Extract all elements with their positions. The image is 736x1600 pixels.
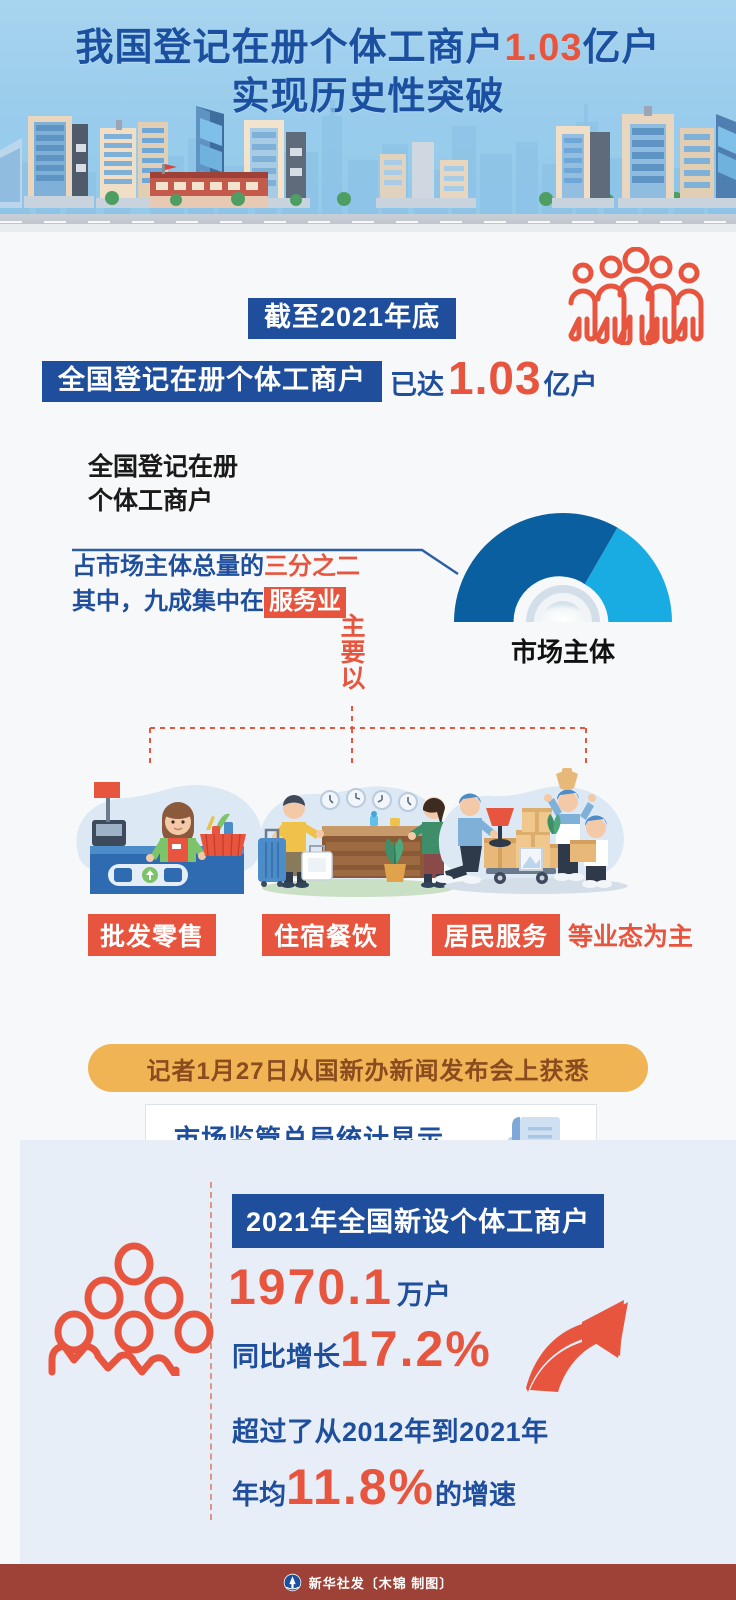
share-title: 全国登记在册 个体工商户	[88, 450, 238, 518]
industry-labels-row: 批发零售 住宿餐饮 居民服务 等业态为主	[0, 914, 736, 958]
dashed-branch-connector	[0, 706, 736, 770]
gauge-label: 市场主体	[448, 632, 678, 669]
share-desc-prefix: 占市场主体总量的	[72, 553, 264, 580]
date-tag-row: 截至2021年底	[248, 298, 456, 339]
industry-label-wholesale-retail: 批发零售	[88, 914, 216, 956]
road-lane-markings	[0, 221, 736, 223]
infographic-page: 我国登记在册个体工商户1.03亿户 实现历史性突破	[0, 0, 736, 1600]
subject-tag: 全国登记在册个体工商户	[42, 361, 382, 402]
industry-label-resident-services: 居民服务	[432, 914, 560, 956]
title-line1-unit: 亿户	[582, 27, 660, 69]
share-desc-line1: 占市场主体总量的三分之二	[72, 550, 360, 585]
share-fraction-highlight: 三分之二	[264, 553, 360, 580]
new-count-value: 1970.1	[228, 1262, 393, 1312]
industry-tail-text: 等业态为主	[568, 914, 693, 956]
title-highlight-value: 1.03	[505, 27, 583, 69]
source-banner: 记者1月27日从国新办新闻发布会上获悉	[88, 1044, 648, 1092]
vertical-char-1: 主	[336, 614, 370, 640]
xinhua-logo-icon	[283, 1573, 302, 1592]
people-pyramid-icon	[48, 1240, 220, 1376]
footer-credit-bar: 新华社发〔木锦 制图〕	[0, 1564, 736, 1600]
curved-up-arrow-icon	[524, 1292, 646, 1396]
people-group-icon	[563, 247, 709, 345]
new-count-row: 1970.1 万户	[228, 1262, 451, 1312]
share-desc-prefix2: 其中，九成集中在	[72, 588, 264, 615]
industry-label-hospitality: 住宿餐饮	[262, 914, 390, 956]
header-banner: 我国登记在册个体工商户1.03亿户 实现历史性突破	[0, 0, 736, 232]
market-entity-gauge-chart	[448, 504, 678, 628]
city-buildings-illustration	[0, 98, 736, 216]
growth-value: 17.2%	[340, 1324, 492, 1374]
average-suffix: 的增速	[435, 1473, 516, 1512]
headline-unit: 亿户	[544, 363, 598, 402]
average-value: 11.8%	[286, 1462, 435, 1512]
title-line1-text: 我国登记在册个体工商户	[76, 27, 505, 69]
headline-row: 全国登记在册个体工商户 已达 1.03 亿户	[42, 358, 598, 402]
vertical-char-2: 要	[336, 640, 370, 666]
share-title-line1: 全国登记在册	[88, 453, 238, 481]
footer-credit-text: 新华社发〔木锦 制图〕	[309, 1573, 454, 1592]
date-tag: 截至2021年底	[248, 298, 456, 339]
suitcase-blue	[258, 830, 286, 887]
market-share-section: 全国登记在册 个体工商户 占市场主体总量的三分之二 其中，九成集中在服务业	[0, 436, 736, 726]
moving-delivery-illustration	[424, 764, 648, 904]
service-industry-chip: 服务业	[264, 587, 346, 618]
share-description: 占市场主体总量的三分之二 其中，九成集中在服务业	[72, 550, 360, 620]
framed-picture	[520, 848, 542, 870]
new-count-unit: 万户	[397, 1273, 451, 1312]
industry-types-section: 批发零售 住宿餐饮 居民服务 等业态为主	[0, 764, 736, 1004]
average-growth-row: 年均 11.8% 的增速	[232, 1462, 516, 1512]
growth-label: 同比增长	[232, 1335, 340, 1374]
share-desc-line2: 其中，九成集中在服务业	[72, 585, 360, 620]
headline-stat-section: 截至2021年底 全国登记在册个体工商户 已达 1.03 亿户	[0, 232, 736, 428]
new-registrations-tag: 2021年全国新设个体工商户	[232, 1194, 604, 1248]
average-label: 年均	[232, 1473, 286, 1512]
road	[0, 214, 736, 232]
share-title-line2: 个体工商户	[88, 487, 213, 515]
headline-value-group: 已达 1.03 亿户	[390, 358, 598, 402]
growth-row: 同比增长 17.2%	[232, 1324, 492, 1374]
vertical-char-3: 以	[336, 666, 370, 692]
comparison-text: 超过了从2012年到2021年	[232, 1410, 549, 1449]
vertical-connector-text: 主 要 以	[336, 614, 370, 692]
headline-value: 1.03	[448, 358, 542, 399]
reached-label: 已达	[390, 363, 444, 402]
